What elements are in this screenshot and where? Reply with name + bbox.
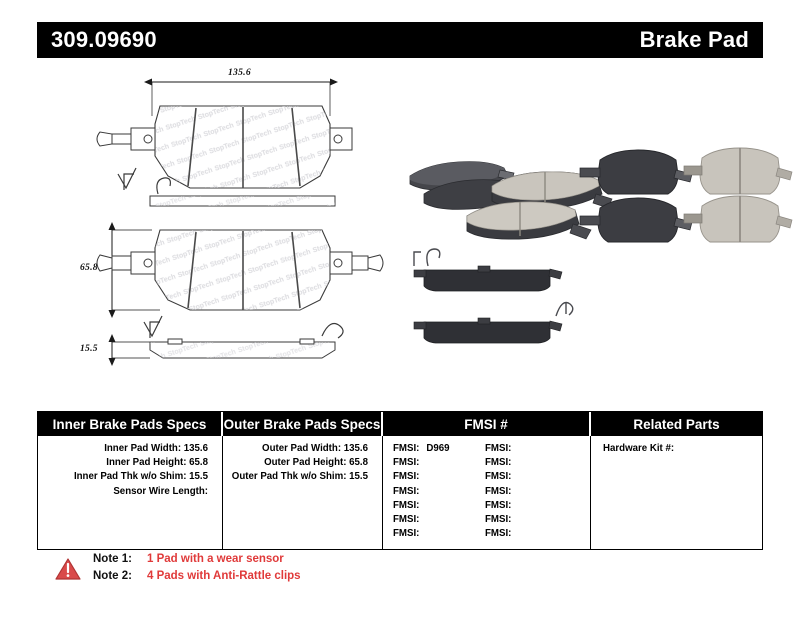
pad-edge-strip-bottom xyxy=(112,316,343,358)
dimension-thickness-label: 15.5 xyxy=(80,344,98,354)
fmsi-label: FMSI: xyxy=(393,443,419,454)
fmsi-value: D969 xyxy=(426,443,449,454)
fmsi-label: FMSI: xyxy=(485,457,511,468)
table-body: Inner Pad Width: 135.6Inner Pad Height: … xyxy=(38,436,762,549)
warning-triangle-icon xyxy=(55,557,81,581)
fmsi-label: FMSI: xyxy=(393,514,419,525)
fmsi-row: FMSI: xyxy=(393,527,485,541)
fmsi-row: FMSI: xyxy=(485,499,577,513)
fmsi-column: FMSI:D969FMSI:FMSI:FMSI:FMSI:FMSI:FMSI: … xyxy=(383,436,591,549)
inner-specs-column: Inner Pad Width: 135.6Inner Pad Height: … xyxy=(38,436,223,549)
fmsi-row: FMSI: xyxy=(393,485,485,499)
specifications-table: Inner Brake Pads Specs Outer Brake Pads … xyxy=(37,411,763,550)
table-header-row: Inner Brake Pads Specs Outer Brake Pads … xyxy=(38,412,762,436)
fmsi-row: FMSI: xyxy=(485,513,577,527)
note-label: Note 1: xyxy=(93,552,141,567)
fmsi-label: FMSI: xyxy=(393,471,419,482)
wear-sensor-connector xyxy=(97,132,131,146)
fmsi-label: FMSI: xyxy=(485,471,511,482)
spec-row: Sensor Wire Length: xyxy=(38,485,222,499)
fmsi-row: FMSI: xyxy=(485,470,577,484)
technical-drawing-area: StopTech xyxy=(0,58,800,388)
note-label: Note 2: xyxy=(93,569,141,584)
column-header-related-parts: Related Parts xyxy=(591,412,762,436)
spec-row: Outer Pad Width: 135.6 xyxy=(223,442,382,456)
spec-row: Inner Pad Width: 135.6 xyxy=(38,442,222,456)
spec-row: Inner Pad Height: 65.8 xyxy=(38,456,222,470)
column-header-outer-specs: Outer Brake Pads Specs xyxy=(223,412,383,436)
spec-row: Inner Pad Thk w/o Shim: 15.5 xyxy=(38,470,222,484)
part-number: 309.09690 xyxy=(51,27,157,53)
note-text: 1 Pad with a wear sensor xyxy=(147,552,284,567)
fmsi-row: FMSI: xyxy=(393,513,485,527)
fmsi-label: FMSI: xyxy=(393,486,419,497)
fmsi-label: FMSI: xyxy=(485,528,511,539)
fmsi-label: FMSI: xyxy=(485,500,511,511)
fmsi-label: FMSI: xyxy=(485,443,511,454)
fmsi-row: FMSI: xyxy=(393,499,485,513)
fmsi-subcolumn-right: FMSI:FMSI:FMSI:FMSI:FMSI:FMSI:FMSI: xyxy=(485,442,577,541)
outer-specs-column: Outer Pad Width: 135.6Outer Pad Height: … xyxy=(223,436,383,549)
note-lines: Note 1:1 Pad with a wear sensorNote 2:4 … xyxy=(93,552,301,584)
dimension-width-label: 135.6 xyxy=(228,68,251,78)
fmsi-label: FMSI: xyxy=(485,514,511,525)
fmsi-row: FMSI: xyxy=(393,456,485,470)
fmsi-row: FMSI: xyxy=(485,456,577,470)
product-spec-sheet: 309.09690 Brake Pad StopTech xyxy=(0,0,800,619)
related-part-row: Hardware Kit #: xyxy=(591,442,762,456)
fmsi-row: FMSI: xyxy=(393,470,485,484)
column-header-fmsi: FMSI # xyxy=(383,412,591,436)
fmsi-label: FMSI: xyxy=(393,457,419,468)
product-photo-edge-views xyxy=(414,249,573,343)
product-photo-flatlay-set xyxy=(580,148,792,242)
fmsi-row: FMSI:D969 xyxy=(393,442,485,456)
spec-row: Outer Pad Height: 65.8 xyxy=(223,456,382,470)
fmsi-label: FMSI: xyxy=(393,500,419,511)
note-2: Note 2:4 Pads with Anti-Rattle clips xyxy=(93,569,301,584)
fmsi-subcolumn-left: FMSI:D969FMSI:FMSI:FMSI:FMSI:FMSI:FMSI: xyxy=(393,442,485,541)
pad-plan-view-top xyxy=(97,82,352,188)
column-header-inner-specs: Inner Brake Pads Specs xyxy=(38,412,223,436)
pad-plan-view-bottom xyxy=(97,230,383,310)
dimension-height-label: 65.8 xyxy=(80,263,98,273)
fmsi-row: FMSI: xyxy=(485,527,577,541)
fmsi-label: FMSI: xyxy=(485,486,511,497)
drawing-svg: StopTech xyxy=(0,58,800,388)
header-bar: 309.09690 Brake Pad xyxy=(37,22,763,58)
fmsi-label: FMSI: xyxy=(393,528,419,539)
note-text: 4 Pads with Anti-Rattle clips xyxy=(147,569,301,584)
fmsi-row: FMSI: xyxy=(485,442,577,456)
fmsi-row: FMSI: xyxy=(485,485,577,499)
notes-section: Note 1:1 Pad with a wear sensorNote 2:4 … xyxy=(55,552,301,584)
related-parts-column: Hardware Kit #: xyxy=(591,436,762,549)
note-1: Note 1:1 Pad with a wear sensor xyxy=(93,552,301,567)
spec-row: Outer Pad Thk w/o Shim: 15.5 xyxy=(223,470,382,484)
page-title: Brake Pad xyxy=(640,27,749,53)
